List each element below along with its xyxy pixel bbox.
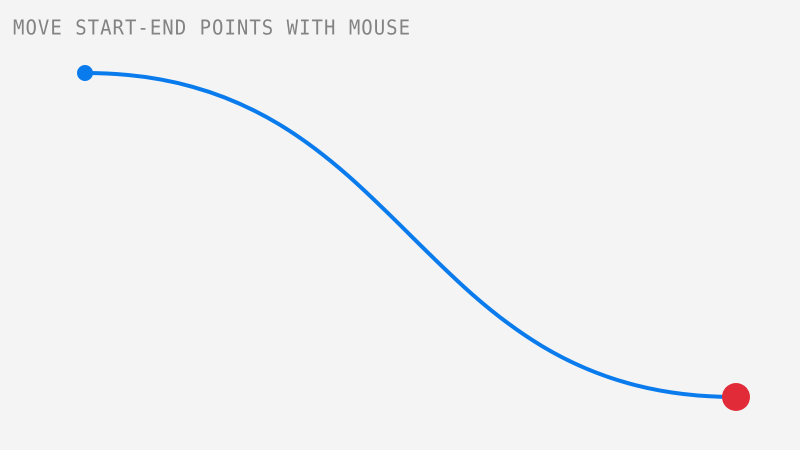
page-title: MOVE START-END POINTS WITH MOUSE xyxy=(13,16,411,40)
end-point-handle[interactable] xyxy=(722,383,750,411)
canvas-stage: MOVE START-END POINTS WITH MOUSE xyxy=(0,0,800,450)
bezier-curve xyxy=(85,73,736,397)
bezier-canvas[interactable] xyxy=(0,0,800,450)
start-point-handle[interactable] xyxy=(77,65,93,81)
